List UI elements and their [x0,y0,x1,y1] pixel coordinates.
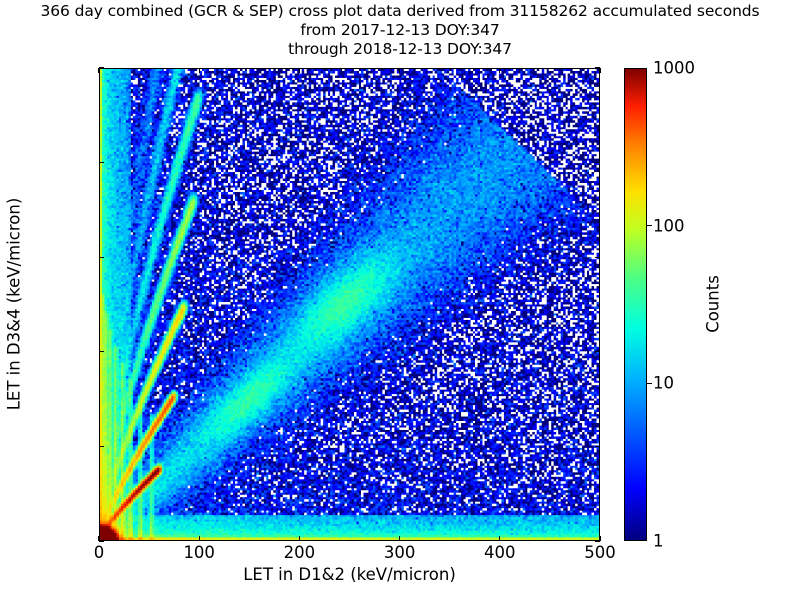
title-line-2: from 2017-12-13 DOY:347 [0,21,800,40]
y-tick-mark [99,351,104,352]
x-tick-mark [499,536,500,541]
heatmap-canvas [100,69,599,540]
colorbar-title: Counts [704,275,723,333]
x-tick-mark-top [499,68,500,73]
x-tick-mark-top [399,68,400,73]
x-tick-label: 300 [360,543,440,562]
y-tick-mark-right [595,351,600,352]
colorbar-tick-label: 100 [653,216,685,235]
x-tick-mark [199,536,200,541]
y-tick-mark [99,162,104,163]
chart-title: 366 day combined (GCR & SEP) cross plot … [0,2,800,59]
x-tick-mark [98,536,99,541]
x-tick-label: 200 [259,543,339,562]
x-tick-label: 100 [159,543,239,562]
x-tick-mark-top [199,68,200,73]
colorbar[interactable] [624,68,647,541]
y-axis-title: LET in D3&4 (keV/micron) [5,198,24,411]
y-tick-mark-right [595,446,600,447]
title-line-3: through 2018-12-13 DOY:347 [0,40,800,59]
x-tick-mark [399,536,400,541]
y-tick-mark [99,446,104,447]
x-tick-mark [299,536,300,541]
figure-canvas: 366 day combined (GCR & SEP) cross plot … [0,0,800,600]
x-tick-mark-top [599,68,600,73]
x-axis-title: LET in D1&2 (keV/micron) [99,565,600,584]
colorbar-tick-label: 10 [653,374,674,393]
x-tick-mark-top [299,68,300,73]
y-tick-mark-right [595,162,600,163]
y-tick-mark [99,540,104,541]
y-tick-mark [99,257,104,258]
y-tick-mark-right [595,257,600,258]
title-line-1: 366 day combined (GCR & SEP) cross plot … [0,2,800,21]
x-tick-label: 400 [460,543,540,562]
colorbar-gradient [624,68,647,541]
colorbar-tick-label: 1 [653,532,664,551]
plot-area[interactable] [99,68,600,541]
colorbar-tick-mark [647,225,652,226]
x-tick-label: 0 [59,543,139,562]
colorbar-tick-mark [647,383,652,384]
x-tick-mark [599,536,600,541]
y-tick-mark [99,67,104,68]
colorbar-tick-label: 1000 [653,59,695,78]
x-tick-label: 500 [560,543,640,562]
x-tick-mark-top [98,68,99,73]
